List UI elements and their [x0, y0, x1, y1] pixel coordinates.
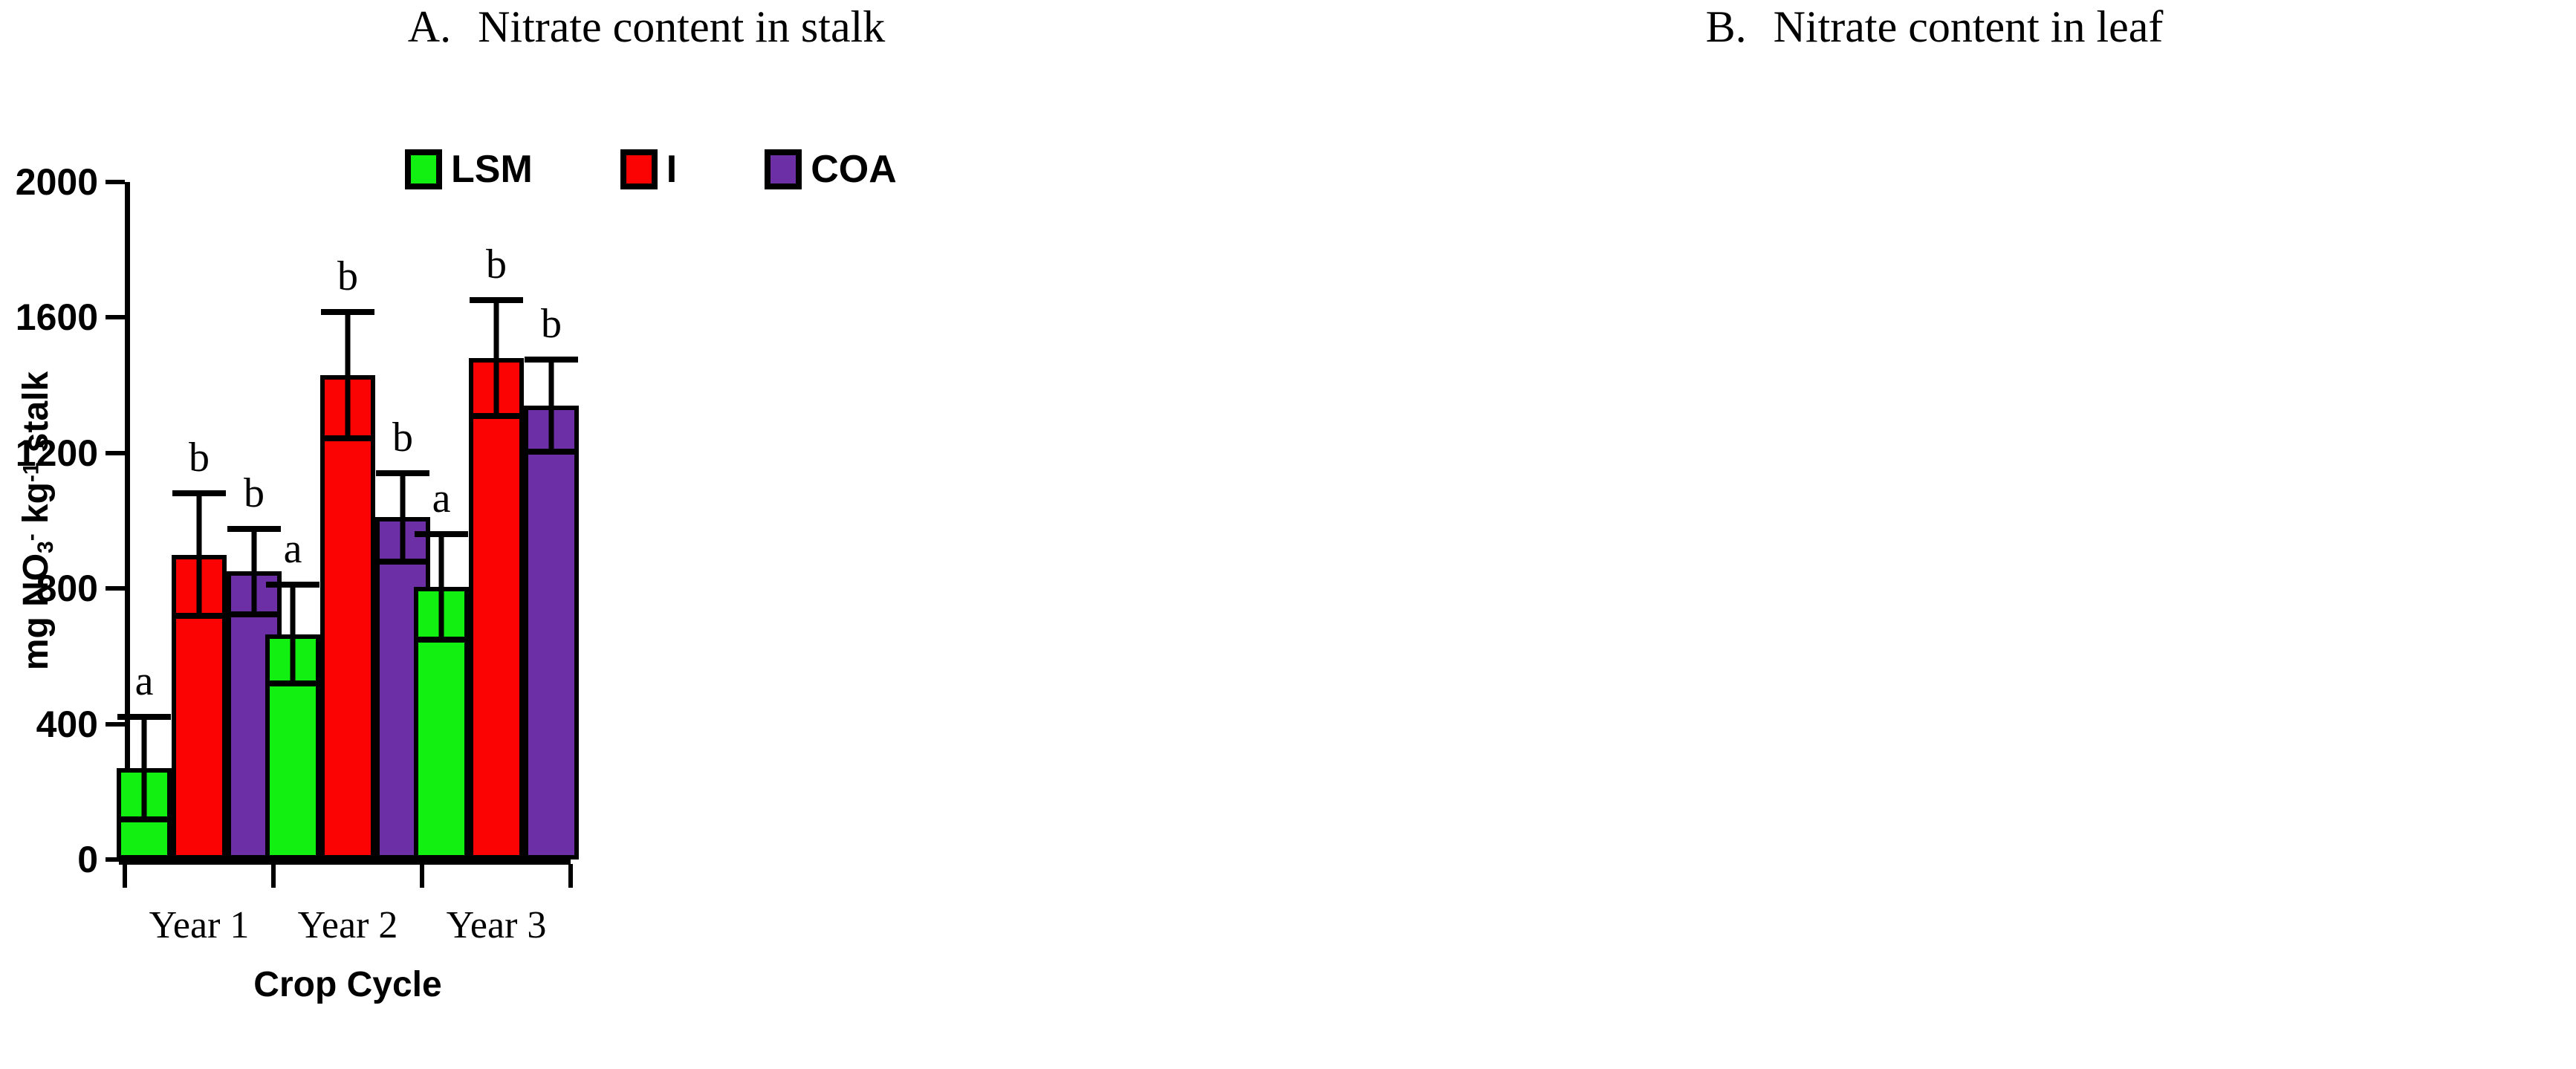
y-tick-label: 1600 — [16, 296, 98, 339]
error-bar-cap-top — [376, 470, 429, 476]
significance-letter: b — [392, 414, 413, 461]
y-tick-label: 800 — [36, 567, 98, 610]
x-category-label: Year 1 — [149, 903, 250, 947]
error-bar-cap-top — [470, 297, 523, 303]
legend-label-i: I — [666, 147, 677, 192]
panel-b-title: B.Nitrate content in leaf — [1293, 1, 2576, 53]
y-tick-label: 1200 — [16, 432, 98, 475]
x-axis-title-a: Crop Cycle — [253, 964, 441, 1005]
legend-item-i[interactable]: I — [620, 147, 677, 192]
bar-i-year-2 — [320, 375, 375, 860]
error-bar-cap-top — [227, 526, 281, 532]
error-bar-cap-bottom — [117, 816, 171, 822]
y-tick-mark — [106, 586, 125, 591]
bar-coa-year-3 — [524, 406, 579, 860]
legend-label-coa: COA — [811, 147, 897, 192]
error-bar — [525, 357, 578, 455]
legend-item-coa[interactable]: COA — [765, 147, 897, 192]
significance-letter: b — [541, 300, 562, 348]
y-tick-mark — [106, 451, 125, 455]
error-bar — [117, 714, 171, 822]
panel-a-title: A.Nitrate content in stalk — [0, 1, 1293, 53]
legend-swatch-coa-icon — [765, 149, 802, 189]
error-bar-cap-bottom — [525, 449, 578, 455]
significance-letter: a — [284, 525, 302, 573]
significance-letter: b — [337, 253, 358, 300]
x-tick-mark — [568, 864, 573, 888]
significance-letter: b — [244, 469, 265, 517]
plot-area-a: mg NO3- kg-1 stalk Crop Cycle 0400800120… — [125, 182, 571, 860]
error-bar-stem — [439, 531, 444, 643]
figure-root: A.Nitrate content in stalk LSM I COA mg … — [0, 0, 2576, 1069]
bar-i-year-3 — [469, 358, 524, 860]
x-category-label: Year 3 — [447, 903, 547, 947]
y-tick-mark — [106, 180, 125, 184]
error-bar — [321, 309, 374, 441]
significance-letter: b — [189, 434, 210, 481]
error-bar-cap-bottom — [470, 413, 523, 419]
error-bar-stem — [400, 470, 406, 565]
error-bar-stem — [291, 582, 296, 686]
error-bar-cap-top — [117, 714, 171, 720]
x-tick-mark — [271, 864, 276, 888]
panel-b-title-text: Nitrate content in leaf — [1774, 2, 2164, 51]
panel-a: A.Nitrate content in stalk LSM I COA mg … — [0, 0, 1293, 1069]
error-bar-cap-top — [525, 357, 578, 363]
x-category-label: Year 2 — [298, 903, 398, 947]
error-bar-stem — [197, 490, 202, 619]
error-bar-cap-top — [266, 582, 319, 588]
panel-b-letter: B. — [1706, 2, 1747, 51]
error-bar-cap-top — [172, 490, 226, 496]
y-tick-mark — [106, 315, 125, 319]
significance-letter: a — [135, 657, 154, 705]
error-bar-cap-bottom — [172, 613, 226, 619]
error-bar — [172, 490, 226, 619]
significance-letter: b — [486, 241, 507, 288]
x-axis-a — [119, 860, 571, 865]
error-bar-cap-top — [415, 531, 468, 537]
error-bar — [266, 582, 319, 686]
x-tick-mark — [420, 864, 424, 888]
error-bar-stem — [252, 526, 257, 617]
y-tick-label: 2000 — [16, 160, 98, 204]
error-bar-stem — [142, 714, 147, 822]
y-axis-title-a: mg NO3- kg-1 stalk — [37, 222, 80, 521]
error-bar-cap-bottom — [415, 637, 468, 643]
panel-a-title-text: Nitrate content in stalk — [478, 2, 885, 51]
error-bar — [415, 531, 468, 643]
panel-b: B.Nitrate content in leaf LSM I COA mg N… — [1293, 0, 2576, 1069]
error-bar — [470, 297, 523, 419]
panel-a-letter: A. — [408, 2, 451, 51]
y-tick-label: 0 — [77, 838, 98, 881]
legend-swatch-i-icon — [620, 149, 658, 189]
error-bar-stem — [494, 297, 499, 419]
error-bar-cap-bottom — [321, 435, 374, 441]
error-bar-stem — [345, 309, 351, 441]
error-bar-stem — [549, 357, 554, 455]
x-tick-mark — [123, 864, 127, 888]
error-bar-cap-top — [321, 309, 374, 315]
significance-letter: a — [432, 475, 451, 522]
y-tick-label: 400 — [36, 703, 98, 746]
error-bar-cap-bottom — [266, 680, 319, 686]
